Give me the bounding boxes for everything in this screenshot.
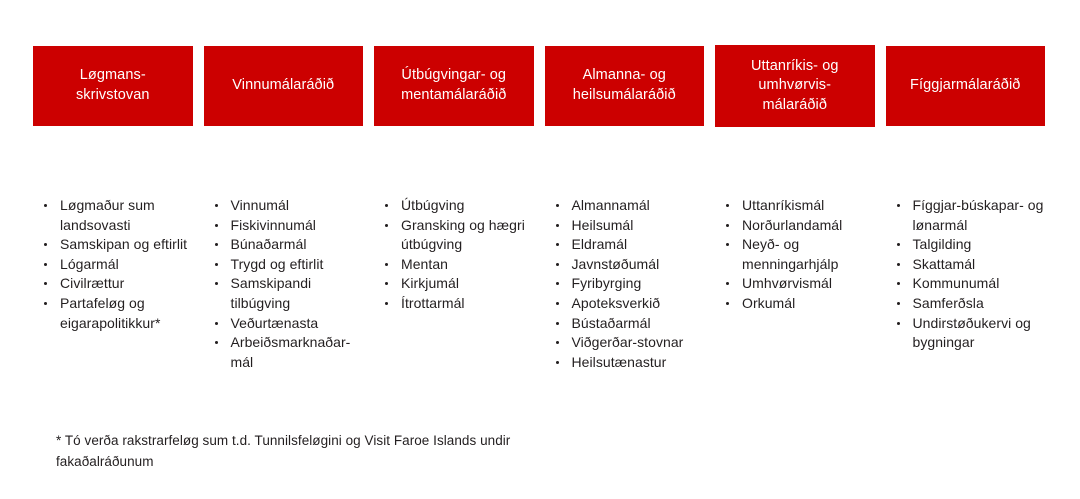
responsibility-column-fiiggjarmalaradid: Fíggjar-búskapar- og lønarmálTalgildingS… (886, 196, 1046, 353)
responsibility-item-label: Heilsutænastur (572, 354, 667, 370)
responsibility-item: Veðurtænasta (204, 314, 364, 334)
bullet-dot-icon (726, 282, 729, 285)
responsibility-list: Løgmaður sum landsovastiSamskipan og eft… (33, 196, 193, 333)
responsibility-item-label: Talgilding (913, 236, 972, 252)
responsibility-item: Javnstøðumál (545, 255, 705, 275)
responsibility-column-logmansskrivstovan: Løgmaður sum landsovastiSamskipan og eft… (33, 196, 193, 333)
responsibility-item-label: Ítrottarmál (401, 295, 465, 311)
footnote-text: * Tó verða rakstrarfeløg sum t.d. Tunnil… (56, 430, 576, 472)
ministry-box-title: Almanna- og heilsumálaráðið (573, 66, 676, 105)
responsibility-item: Lógarmál (33, 255, 193, 275)
ministry-box-title: Vinnumálaráðið (232, 76, 334, 96)
responsibility-item-label: Fyribyrging (572, 275, 642, 291)
responsibility-item: Skattamál (886, 255, 1046, 275)
bullet-dot-icon (556, 224, 559, 227)
responsibility-item-label: Heilsumál (572, 217, 634, 233)
responsibility-list: ÚtbúgvingGransking og hægri útbúgvingMen… (374, 196, 534, 314)
bullet-dot-icon (726, 243, 729, 246)
bullet-dot-icon (726, 224, 729, 227)
ministry-box-fiiggjarmalaradid[interactable]: Fíggjarmálaráðið (886, 46, 1046, 126)
responsibility-item-label: Arbeiðsmarknaðar-mál (231, 334, 351, 370)
responsibility-item: Civilrættur (33, 274, 193, 294)
responsibility-item-label: Skattamál (913, 256, 976, 272)
bullet-dot-icon (215, 322, 218, 325)
responsibility-item: Vinnumál (204, 196, 364, 216)
bullet-dot-icon (385, 282, 388, 285)
responsibility-item-label: Samferðsla (913, 295, 984, 311)
bullet-dot-icon (385, 302, 388, 305)
responsibility-item-label: Bústaðarmál (572, 315, 651, 331)
bullet-dot-icon (897, 282, 900, 285)
responsibility-item: Eldramál (545, 235, 705, 255)
responsibility-item-label: Eldramál (572, 236, 628, 252)
bullet-dot-icon (897, 302, 900, 305)
responsibility-item: Heilsutænastur (545, 353, 705, 373)
bullet-dot-icon (556, 302, 559, 305)
responsibility-item-label: Fiskivinnumál (231, 217, 316, 233)
responsibility-item: Løgmaður sum landsovasti (33, 196, 193, 235)
responsibility-item-label: Fíggjar-búskapar- og lønarmál (913, 197, 1044, 233)
responsibility-list: VinnumálFiskivinnumálBúnaðarmálTrygd og … (204, 196, 364, 372)
bullet-dot-icon (556, 243, 559, 246)
bullet-dot-icon (556, 204, 559, 207)
responsibility-item-label: Veðurtænasta (231, 315, 319, 331)
bullet-dot-icon (44, 263, 47, 266)
responsibility-list: AlmannamálHeilsumálEldramálJavnstøðumálF… (545, 196, 705, 372)
responsibility-item-label: Undirstøðukervi og bygningar (913, 315, 1031, 351)
ministry-box-uttanrikis-og-umhvorvismalaradid[interactable]: Uttanríkis- og umhvørvis- málaráðið (715, 45, 875, 127)
bullet-dot-icon (385, 224, 388, 227)
responsibility-list: Fíggjar-búskapar- og lønarmálTalgildingS… (886, 196, 1046, 353)
responsibility-item-label: Lógarmál (60, 256, 119, 272)
organisation-chart-slide: Løgmans- skrivstovan Vinnumálaráðið Útbú… (0, 0, 1080, 499)
bullet-dot-icon (726, 302, 729, 305)
responsibility-item: Samskipandi tilbúgving (204, 274, 364, 313)
responsibility-item-label: Javnstøðumál (572, 256, 660, 272)
responsibility-item: Orkumál (715, 294, 875, 314)
responsibility-item: Fiskivinnumál (204, 216, 364, 236)
ministry-box-almanna-og-heilsumalaradid[interactable]: Almanna- og heilsumálaráðið (545, 46, 705, 126)
responsibility-item-label: Norðurlandamál (742, 217, 842, 233)
responsibility-item-label: Løgmaður sum landsovasti (60, 197, 155, 233)
ministry-box-title: Løgmans- skrivstovan (76, 66, 150, 105)
bullet-dot-icon (215, 224, 218, 227)
responsibility-item: Partafeløg og eigarapolitikkur* (33, 294, 193, 333)
responsibility-item-label: Kirkjumál (401, 275, 459, 291)
bullet-dot-icon (215, 243, 218, 246)
bullet-dot-icon (726, 204, 729, 207)
responsibility-column-utbugvingar-og-mentamalaradid: ÚtbúgvingGransking og hægri útbúgvingMen… (374, 196, 534, 314)
responsibility-item-label: Samskipan og eftirlit (60, 236, 187, 252)
responsibility-item: Almannamál (545, 196, 705, 216)
responsibility-item-label: Trygd og eftirlit (231, 256, 324, 272)
responsibility-column-almanna-og-heilsumalaradid: AlmannamálHeilsumálEldramálJavnstøðumálF… (545, 196, 705, 372)
responsibility-item: Talgilding (886, 235, 1046, 255)
responsibility-item-label: Partafeløg og eigarapolitikkur* (60, 295, 160, 331)
bullet-dot-icon (215, 204, 218, 207)
bullet-dot-icon (385, 263, 388, 266)
ministry-box-vinnumalaradid[interactable]: Vinnumálaráðið (204, 46, 364, 126)
responsibility-item-label: Útbúgving (401, 197, 465, 213)
ministry-box-title: Útbúgvingar- og mentamálaráðið (401, 66, 506, 105)
responsibility-item: Útbúgving (374, 196, 534, 216)
responsibility-item: Fyribyrging (545, 274, 705, 294)
responsibility-item-label: Samskipandi tilbúgving (231, 275, 312, 311)
responsibility-item: Umhvørvismál (715, 274, 875, 294)
responsibility-item-label: Almannamál (572, 197, 650, 213)
responsibility-item: Samskipan og eftirlit (33, 235, 193, 255)
responsibility-column-vinnumalaradid: VinnumálFiskivinnumálBúnaðarmálTrygd og … (204, 196, 364, 372)
bullet-dot-icon (215, 341, 218, 344)
bullet-dot-icon (897, 263, 900, 266)
responsibility-item-label: Uttanríkismál (742, 197, 824, 213)
bullet-dot-icon (44, 204, 47, 207)
responsibility-item: Bústaðarmál (545, 314, 705, 334)
bullet-dot-icon (897, 322, 900, 325)
ministry-box-row: Løgmans- skrivstovan Vinnumálaráðið Útbú… (33, 46, 1045, 127)
responsibility-item: Mentan (374, 255, 534, 275)
ministry-box-title: Fíggjarmálaráðið (910, 76, 1020, 96)
responsibility-item-label: Gransking og hægri útbúgving (401, 217, 525, 253)
responsibility-item-label: Kommunumál (913, 275, 1000, 291)
responsibility-item: Gransking og hægri útbúgving (374, 216, 534, 255)
responsibility-item: Uttanríkismál (715, 196, 875, 216)
bullet-dot-icon (897, 204, 900, 207)
responsibility-item: Kirkjumál (374, 274, 534, 294)
responsibility-item: Apoteksverkið (545, 294, 705, 314)
responsibility-item: Fíggjar-búskapar- og lønarmál (886, 196, 1046, 235)
bullet-dot-icon (897, 243, 900, 246)
bullet-dot-icon (385, 204, 388, 207)
responsibility-item-label: Umhvørvismál (742, 275, 832, 291)
responsibility-item-label: Apoteksverkið (572, 295, 661, 311)
responsibility-item-label: Mentan (401, 256, 448, 272)
responsibility-columns: Løgmaður sum landsovastiSamskipan og eft… (33, 196, 1045, 372)
bullet-dot-icon (44, 282, 47, 285)
ministry-box-logmansskrivstovan[interactable]: Løgmans- skrivstovan (33, 46, 193, 126)
responsibility-item: Undirstøðukervi og bygningar (886, 314, 1046, 353)
responsibility-item-label: Vinnumál (231, 197, 290, 213)
bullet-dot-icon (44, 243, 47, 246)
bullet-dot-icon (556, 361, 559, 364)
bullet-dot-icon (556, 341, 559, 344)
responsibility-item: Samferðsla (886, 294, 1046, 314)
bullet-dot-icon (215, 282, 218, 285)
responsibility-item-label: Viðgerðar-stovnar (572, 334, 684, 350)
bullet-dot-icon (556, 263, 559, 266)
responsibility-item: Kommunumál (886, 274, 1046, 294)
responsibility-item: Trygd og eftirlit (204, 255, 364, 275)
responsibility-item-label: Orkumál (742, 295, 795, 311)
responsibility-item-label: Búnaðarmál (231, 236, 307, 252)
responsibility-item: Ítrottarmál (374, 294, 534, 314)
bullet-dot-icon (215, 263, 218, 266)
responsibility-item: Heilsumál (545, 216, 705, 236)
ministry-box-utbugvingar-og-mentamalaradid[interactable]: Útbúgvingar- og mentamálaráðið (374, 46, 534, 126)
bullet-dot-icon (556, 282, 559, 285)
bullet-dot-icon (556, 322, 559, 325)
responsibility-item: Búnaðarmál (204, 235, 364, 255)
responsibility-item: Neyð- og menningarhjálp (715, 235, 875, 274)
bullet-dot-icon (44, 302, 47, 305)
responsibility-item-label: Civilrættur (60, 275, 124, 291)
responsibility-column-uttanrikis-og-umhvorvismalaradid: UttanríkismálNorðurlandamálNeyð- og menn… (715, 196, 875, 314)
ministry-box-title: Uttanríkis- og umhvørvis- málaráðið (751, 57, 839, 116)
responsibility-item: Arbeiðsmarknaðar-mál (204, 333, 364, 372)
responsibility-item: Norðurlandamál (715, 216, 875, 236)
responsibility-list: UttanríkismálNorðurlandamálNeyð- og menn… (715, 196, 875, 314)
responsibility-item-label: Neyð- og menningarhjálp (742, 236, 838, 272)
responsibility-item: Viðgerðar-stovnar (545, 333, 705, 353)
